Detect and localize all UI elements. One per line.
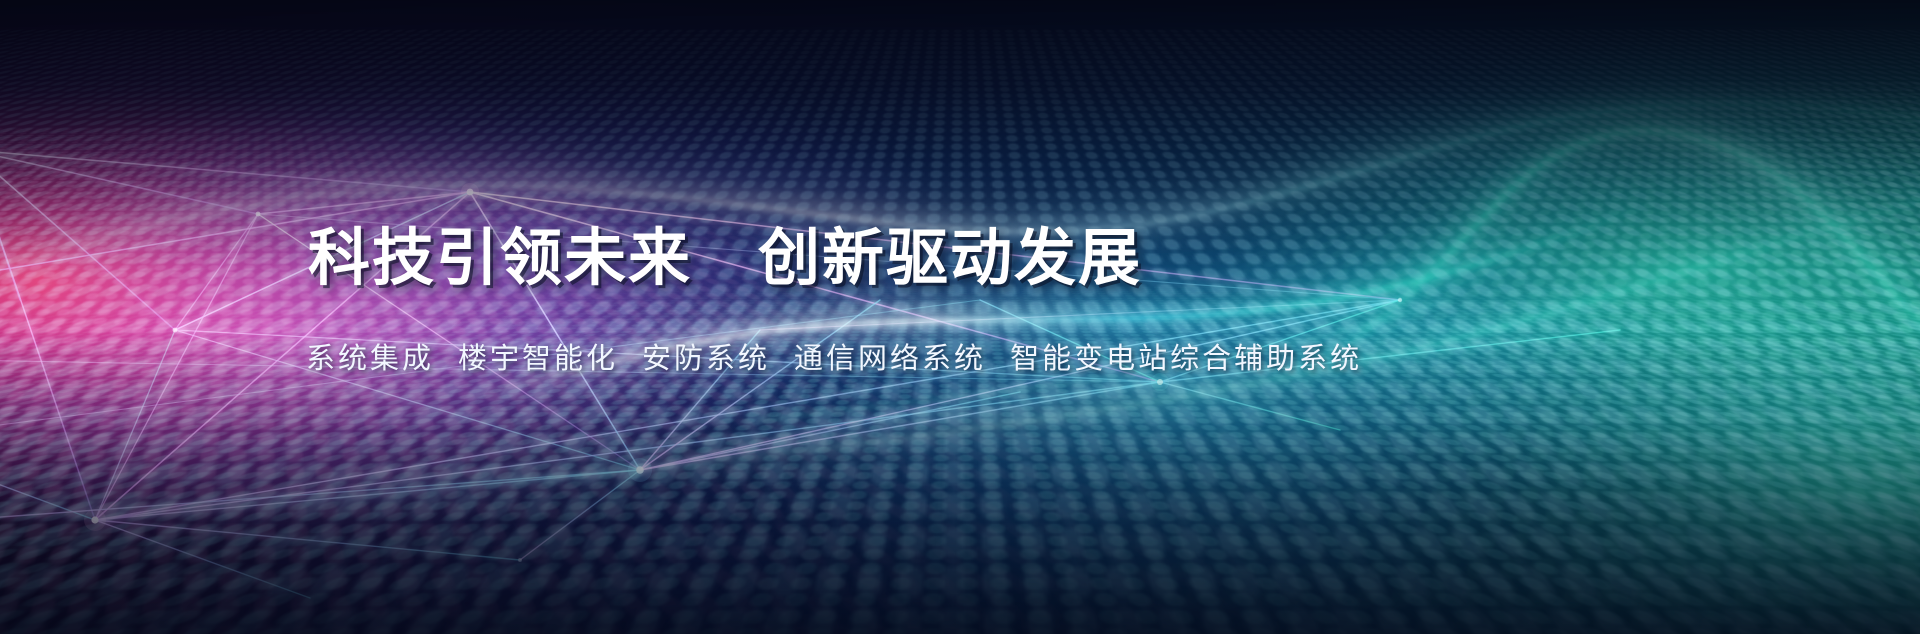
banner-subline: 系统集成楼宇智能化安防系统通信网络系统智能变电站综合辅助系统 [306, 345, 1362, 374]
subline-item-4: 智能变电站综合辅助系统 [1010, 343, 1362, 375]
hero-banner: 科技引领未来创新驱动发展 系统集成楼宇智能化安防系统通信网络系统智能变电站综合辅… [0, 0, 1920, 634]
subline-item-1: 楼宇智能化 [458, 343, 618, 375]
headline-part-2: 创新驱动发展 [758, 224, 1142, 293]
banner-headline: 科技引领未来创新驱动发展 [308, 228, 1142, 290]
subline-item-2: 安防系统 [642, 343, 770, 375]
subline-item-3: 通信网络系统 [794, 343, 986, 375]
headline-part-1: 科技引领未来 [308, 224, 692, 293]
banner-text-block: 科技引领未来创新驱动发展 系统集成楼宇智能化安防系统通信网络系统智能变电站综合辅… [0, 0, 1920, 634]
subline-item-0: 系统集成 [306, 343, 434, 375]
